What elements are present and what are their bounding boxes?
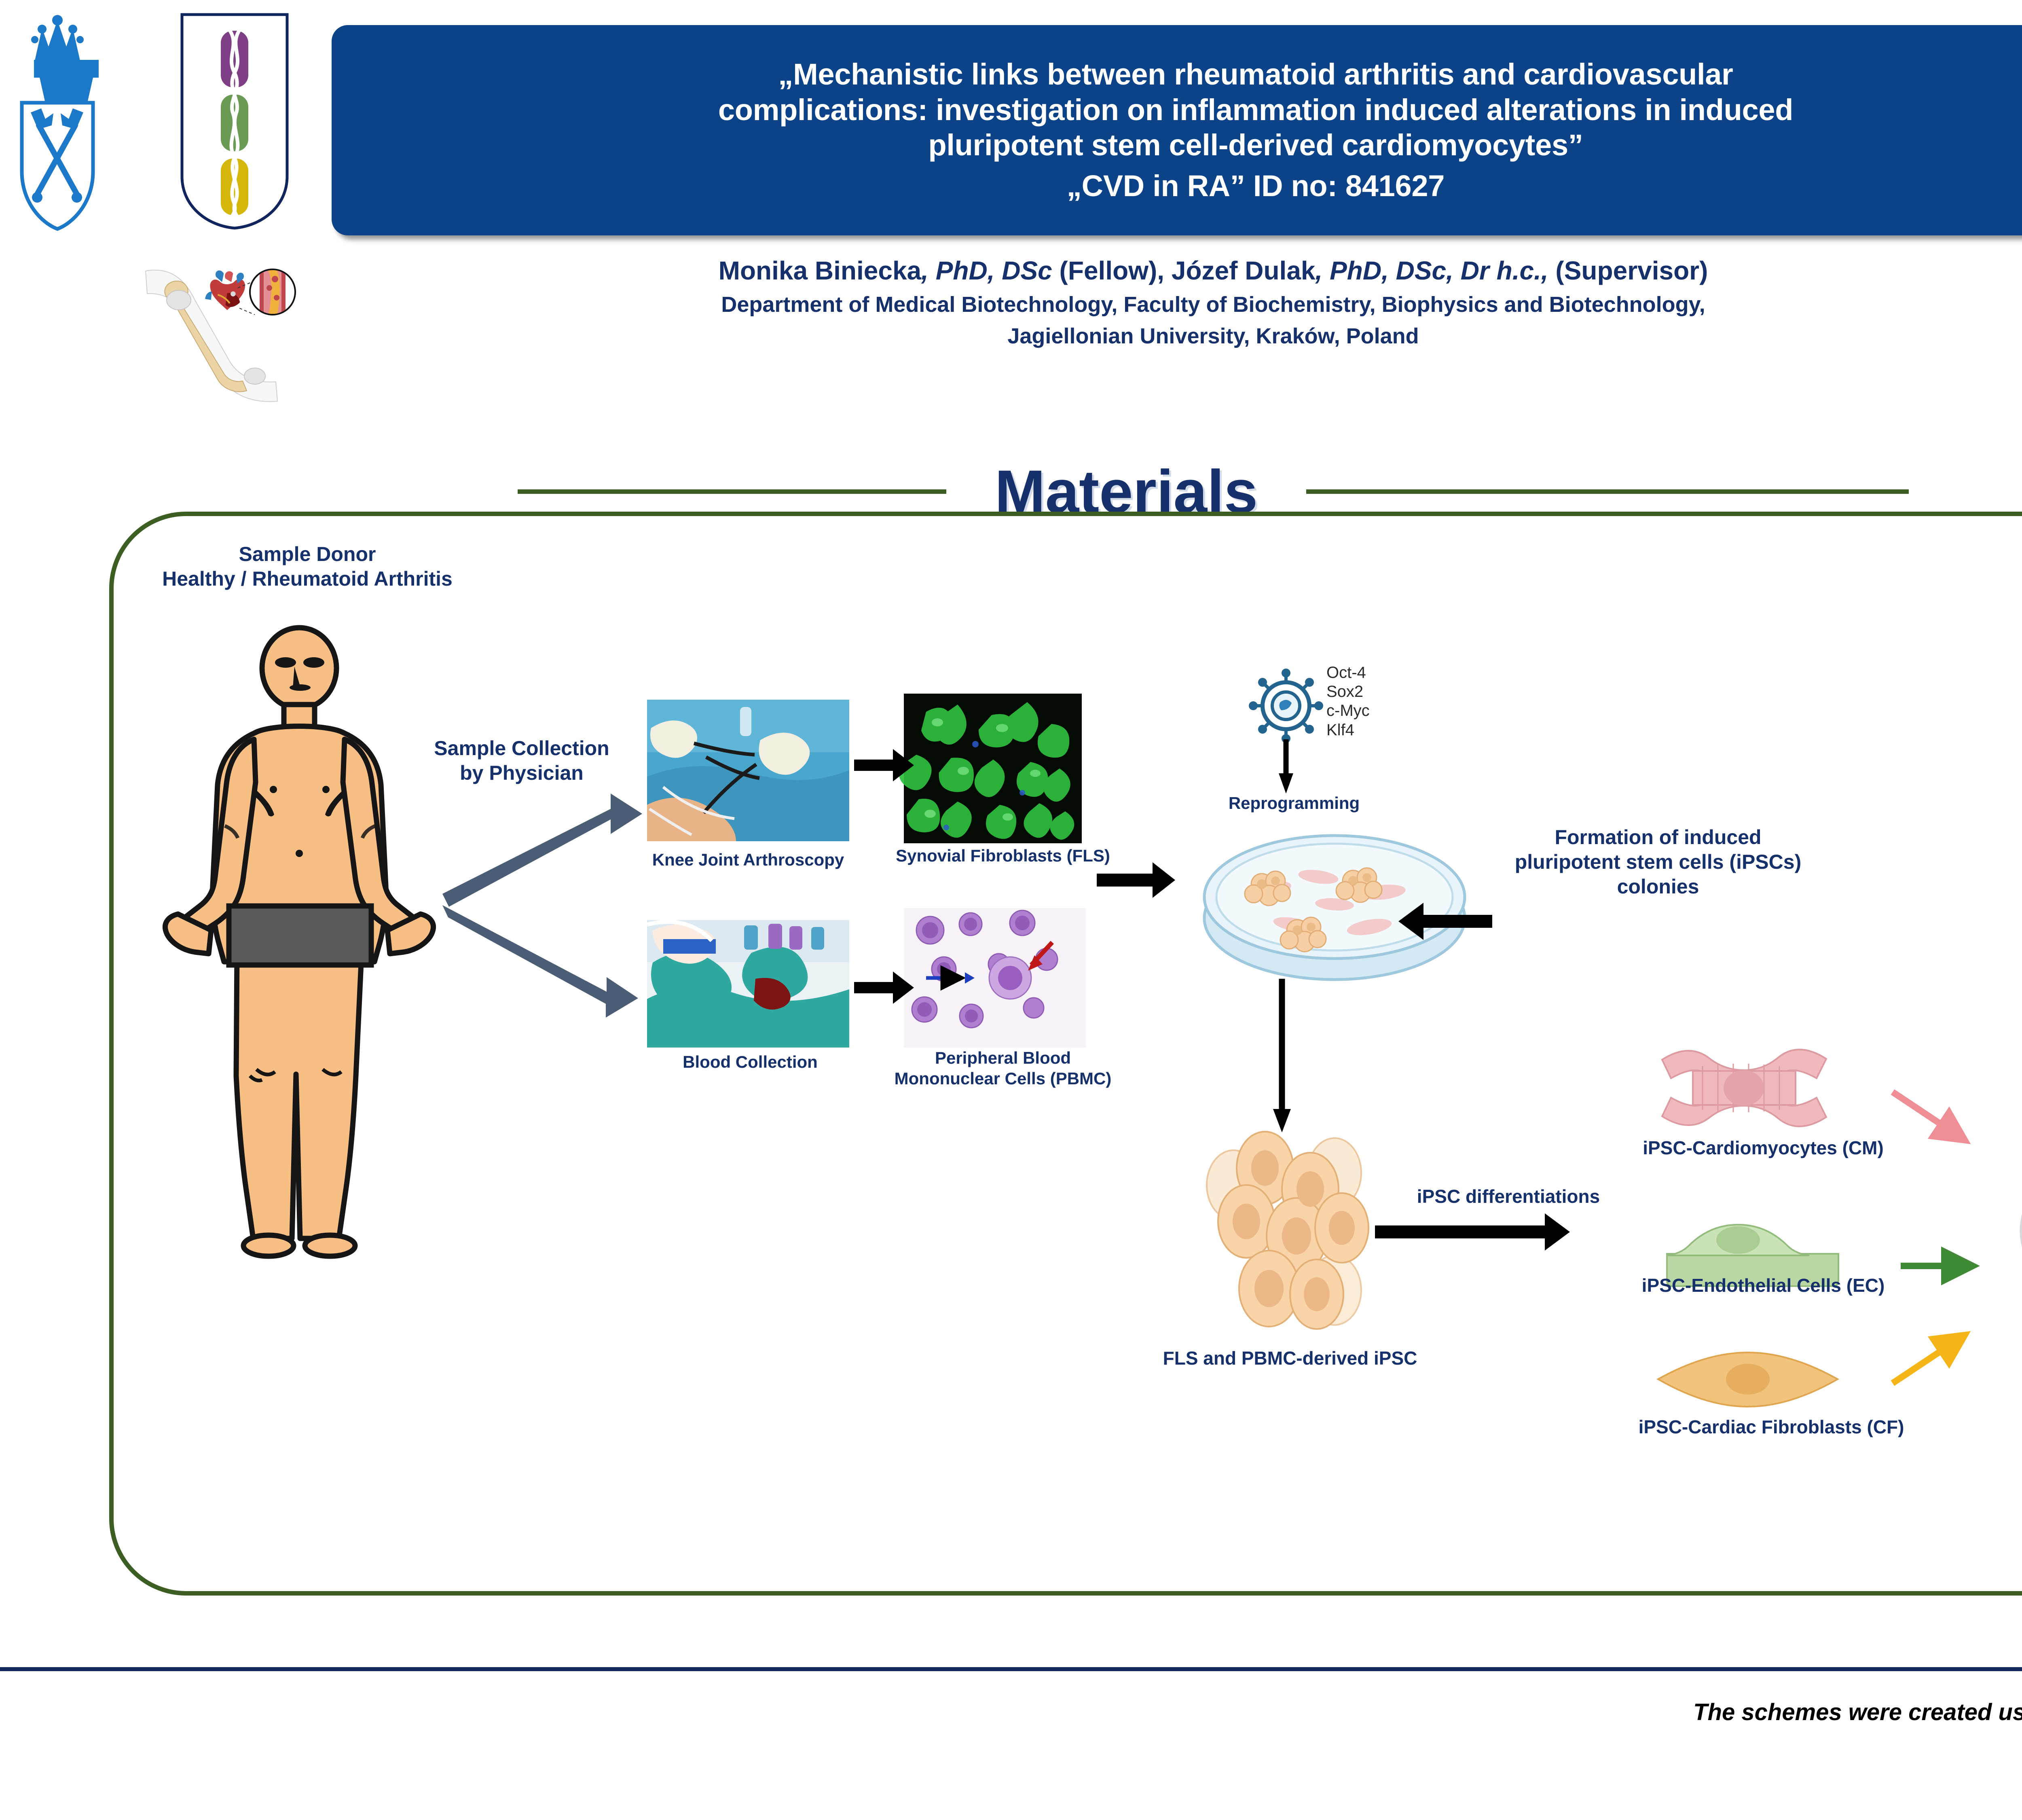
label-endothelial-cells: iPSC-Endothelial Cells (EC) bbox=[1610, 1274, 1917, 1297]
label-cardiac-microtissue: 3D Cardiac Microtissue (MT) bbox=[2006, 1363, 2022, 1386]
cell-to-microtissue-arrows bbox=[1893, 1092, 1973, 1383]
pbmc-micrograph bbox=[904, 908, 1086, 1048]
factor-sox2: Sox2 bbox=[1326, 682, 1448, 701]
label-sample-collection: Sample Collection by Physician bbox=[408, 736, 635, 785]
footer-divider bbox=[0, 1667, 2022, 1671]
attribution-prefix: The schemes were created using BioRender… bbox=[1693, 1699, 2022, 1725]
reprogramming-virus-icon bbox=[1249, 669, 1323, 794]
cardiomyocyte-icon bbox=[1662, 1050, 1826, 1126]
materials-workflow-diagram bbox=[0, 0, 2022, 1820]
label-reprogramming: Reprogramming bbox=[1209, 793, 1379, 813]
label-synovial-fibroblasts: Synovial Fibroblasts (FLS) bbox=[882, 845, 1124, 866]
differentiation-arrow bbox=[1375, 1213, 1570, 1251]
label-pbmc: Peripheral Blood Mononuclear Cells (PBMC… bbox=[874, 1048, 1132, 1089]
synovial-fibroblast-micrograph bbox=[899, 694, 1082, 843]
branching-arrows bbox=[442, 794, 642, 1018]
collection-line-1: Sample Collection bbox=[408, 736, 635, 761]
ipsc-form-line-1: Formation of induced bbox=[1496, 825, 1820, 850]
factor-klf4: Klf4 bbox=[1326, 721, 1448, 740]
donor-body-figure bbox=[165, 628, 433, 1256]
factor-oct4: Oct-4 bbox=[1326, 663, 1448, 682]
label-knee-arthroscopy: Knee Joint Arthroscopy bbox=[639, 849, 857, 870]
label-cardiomyocytes: iPSC-Cardiomyocytes (CM) bbox=[1610, 1136, 1917, 1159]
label-derived-ipsc: FLS and PBMC-derived iPSC bbox=[1124, 1347, 1456, 1369]
collection-line-2: by Physician bbox=[408, 761, 635, 785]
ipsc-form-line-3: colonies bbox=[1496, 874, 1820, 899]
ipsc-form-line-2: pluripotent stem cells (iPSCs) bbox=[1496, 850, 1820, 874]
biorender-attribution: The schemes were created using BioRender… bbox=[0, 1699, 2022, 1726]
factor-cmyc: c-Myc bbox=[1326, 701, 1448, 720]
ipsc-cell-cluster bbox=[1207, 1132, 1368, 1329]
transcription-factor-list: Oct-4 Sox2 c-Myc Klf4 bbox=[1326, 663, 1448, 740]
dish-to-cluster-arrow bbox=[1273, 979, 1291, 1132]
label-cardiac-fibroblasts: iPSC-Cardiac Fibroblasts (CF) bbox=[1614, 1416, 1929, 1438]
label-blood-collection: Blood Collection bbox=[643, 1052, 857, 1072]
cardiac-fibroblast-icon bbox=[1658, 1352, 1838, 1407]
knee-arthroscopy-photo bbox=[647, 700, 849, 841]
donor-line-1: Sample Donor bbox=[125, 542, 489, 567]
label-sample-donor: Sample Donor Healthy / Rheumatoid Arthri… bbox=[125, 542, 489, 591]
blood-collection-photo bbox=[647, 920, 849, 1048]
petri-dish-ipsc-colonies bbox=[1204, 836, 1465, 980]
pbmc-line-1: Peripheral Blood bbox=[874, 1048, 1132, 1068]
donor-line-2: Healthy / Rheumatoid Arthritis bbox=[125, 567, 489, 591]
label-ipsc-formation: Formation of induced pluripotent stem ce… bbox=[1496, 825, 1820, 899]
pbmc-line-2: Mononuclear Cells (PBMC) bbox=[874, 1068, 1132, 1089]
label-ipsc-differentiations: iPSC differentiations bbox=[1395, 1185, 1622, 1208]
